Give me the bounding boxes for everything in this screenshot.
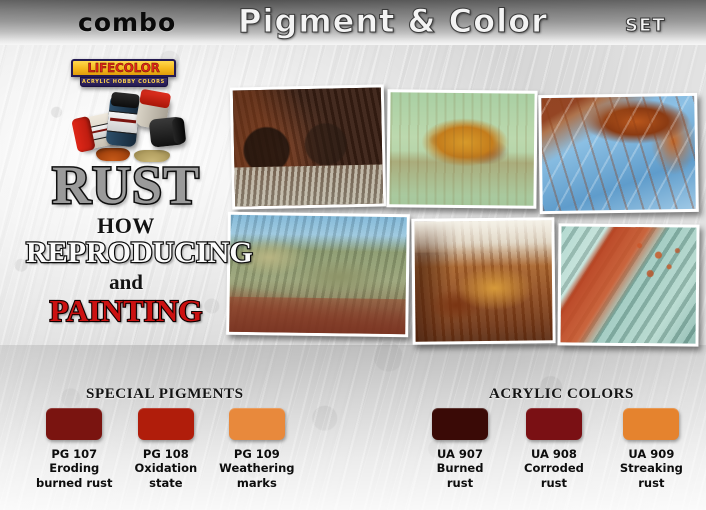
photo-train-bogie bbox=[230, 84, 387, 209]
title-block: RUST HOW REPRODUCING and PAINTING bbox=[26, 160, 226, 326]
set-label: SET bbox=[625, 15, 666, 36]
photo-tank-image bbox=[229, 215, 407, 334]
swatch-chip-pg-109[interactable] bbox=[229, 408, 285, 440]
logo-tagline: ACRYLIC HOBBY COLORS bbox=[82, 80, 165, 85]
header-band: combo Pigment & Color SET bbox=[0, 0, 706, 45]
swatch-ua-908[interactable]: UA 908 Corroded rust bbox=[524, 408, 584, 490]
swatch-pg-107[interactable]: PG 107 Eroding burned rust bbox=[36, 408, 113, 490]
swatch-ua-907[interactable]: UA 907 Burned rust bbox=[432, 408, 488, 490]
swatch-code-pg-107: PG 107 bbox=[51, 447, 97, 461]
lifecolor-logo: LIFECOLOR ACRYLIC HOBBY COLORS bbox=[71, 59, 176, 87]
swatch-name-ua-909: Streaking rust bbox=[620, 461, 683, 490]
paint-jars-illustration bbox=[74, 92, 186, 164]
title-painting: PAINTING bbox=[26, 295, 226, 327]
swatch-row-acrylic-colors: UA 907 Burned rust UA 908 Corroded rust … bbox=[432, 408, 683, 490]
swatch-code-pg-109: PG 109 bbox=[234, 447, 280, 461]
combo-label: combo bbox=[78, 8, 176, 37]
photo-corrugated-roof-image bbox=[560, 226, 696, 343]
logo-brand-name: LIFECOLOR bbox=[87, 62, 159, 74]
photo-train-bogie-image bbox=[233, 87, 383, 206]
swatch-name-ua-907: Burned rust bbox=[437, 461, 484, 490]
section-title-special-pigments: SPECIAL PIGMENTS bbox=[86, 386, 244, 403]
paint-jar-red-cap-right-cap bbox=[139, 89, 171, 109]
swatch-name-pg-108: Oxidation state bbox=[135, 461, 198, 490]
swatch-chip-pg-107[interactable] bbox=[46, 408, 102, 440]
logo-subbanner: ACRYLIC HOBBY COLORS bbox=[80, 77, 168, 87]
swatch-name-pg-109: Weathering marks bbox=[219, 461, 294, 490]
swatch-name-pg-107: Eroding burned rust bbox=[36, 461, 113, 490]
swatch-pg-108[interactable]: PG 108 Oxidation state bbox=[135, 408, 198, 490]
swatch-code-pg-108: PG 108 bbox=[143, 447, 189, 461]
photo-corrugated-roof bbox=[557, 223, 699, 346]
photo-green-wall bbox=[386, 89, 537, 209]
swatch-chip-ua-907[interactable] bbox=[432, 408, 488, 440]
swatch-code-ua-908: UA 908 bbox=[531, 447, 577, 461]
swatch-chip-pg-108[interactable] bbox=[138, 408, 194, 440]
swatch-ua-909[interactable]: UA 909 Streaking rust bbox=[620, 408, 683, 490]
paint-jar-black-right bbox=[149, 116, 186, 147]
paint-jar-black bbox=[105, 95, 140, 148]
title-reproducing: REPRODUCING bbox=[26, 238, 226, 269]
swatch-pg-109[interactable]: PG 109 Weathering marks bbox=[219, 408, 294, 490]
paint-jar-black-cap bbox=[111, 92, 140, 109]
swatch-row-special-pigments: PG 107 Eroding burned rust PG 108 Oxidat… bbox=[36, 408, 295, 490]
swatch-name-ua-908: Corroded rust bbox=[524, 461, 584, 490]
photo-blue-hull-image bbox=[541, 96, 696, 211]
title-how: HOW bbox=[26, 214, 226, 238]
photo-ship-hull-image bbox=[414, 220, 552, 341]
swatch-code-ua-907: UA 907 bbox=[437, 447, 483, 461]
section-title-acrylic-colors: ACRYLIC COLORS bbox=[489, 386, 634, 403]
title-rust: RUST bbox=[26, 160, 226, 212]
photo-green-wall-image bbox=[389, 92, 534, 206]
swatch-chip-ua-908[interactable] bbox=[526, 408, 582, 440]
photo-ship-hull bbox=[411, 217, 555, 344]
photo-blue-hull bbox=[538, 93, 699, 214]
page-title: Pigment & Color bbox=[238, 2, 548, 40]
swatch-chip-ua-909[interactable] bbox=[623, 408, 679, 440]
product-card: combo Pigment & Color SET LIFECOLOR ACRY… bbox=[0, 0, 706, 510]
paint-jar-black-label bbox=[107, 110, 139, 134]
paint-jar-black-right-rim bbox=[172, 117, 187, 144]
logo-banner: LIFECOLOR bbox=[71, 59, 176, 77]
swatch-code-ua-909: UA 909 bbox=[628, 447, 674, 461]
photo-tank bbox=[226, 212, 410, 338]
title-and: and bbox=[26, 269, 226, 295]
